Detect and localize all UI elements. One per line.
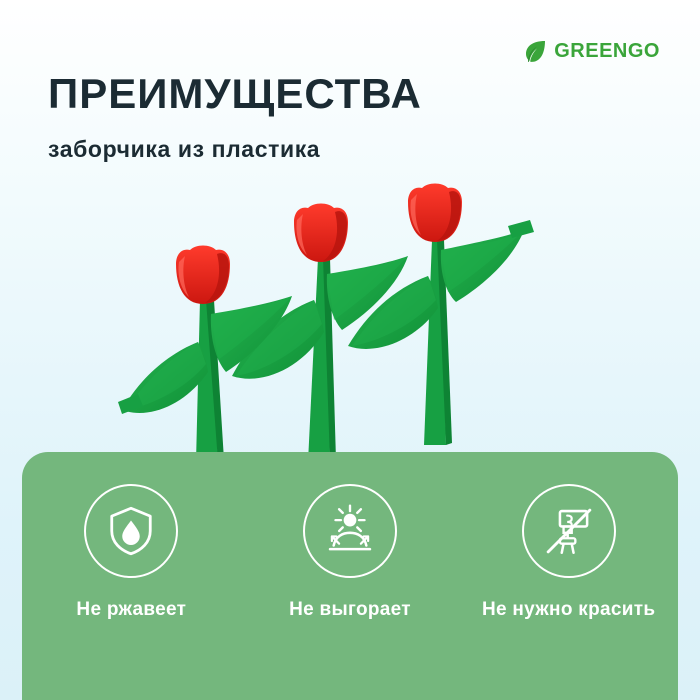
feature-item-no-painting: Не нужно красить	[471, 484, 667, 622]
paint-roller-crossed-icon	[522, 484, 616, 578]
product-image	[0, 180, 700, 480]
feature-item-no-rust: Не ржавеет	[33, 484, 229, 622]
tulip-stake-3	[348, 184, 534, 446]
feature-label: Не нужно красить	[482, 598, 655, 622]
features-panel: Не ржавеет	[22, 452, 678, 700]
page-subtitle: заборчика из пластика	[48, 136, 320, 163]
feature-item-no-fade: Не выгорает	[252, 484, 448, 622]
sun-uv-resistant-icon	[303, 484, 397, 578]
feature-label: Не выгорает	[289, 598, 411, 622]
promo-poster: GREENGO ПРЕИМУЩЕСТВА заборчика из пласти…	[0, 0, 700, 700]
features-list: Не ржавеет	[22, 452, 678, 622]
shield-water-drop-icon	[84, 484, 178, 578]
brand-logo: GREENGO	[522, 38, 660, 64]
brand-name: GREENGO	[554, 40, 660, 63]
feature-label: Не ржавеет	[76, 598, 186, 622]
page-title: ПРЕИМУЩЕСТВА	[48, 72, 422, 116]
leaf-icon	[522, 38, 548, 64]
